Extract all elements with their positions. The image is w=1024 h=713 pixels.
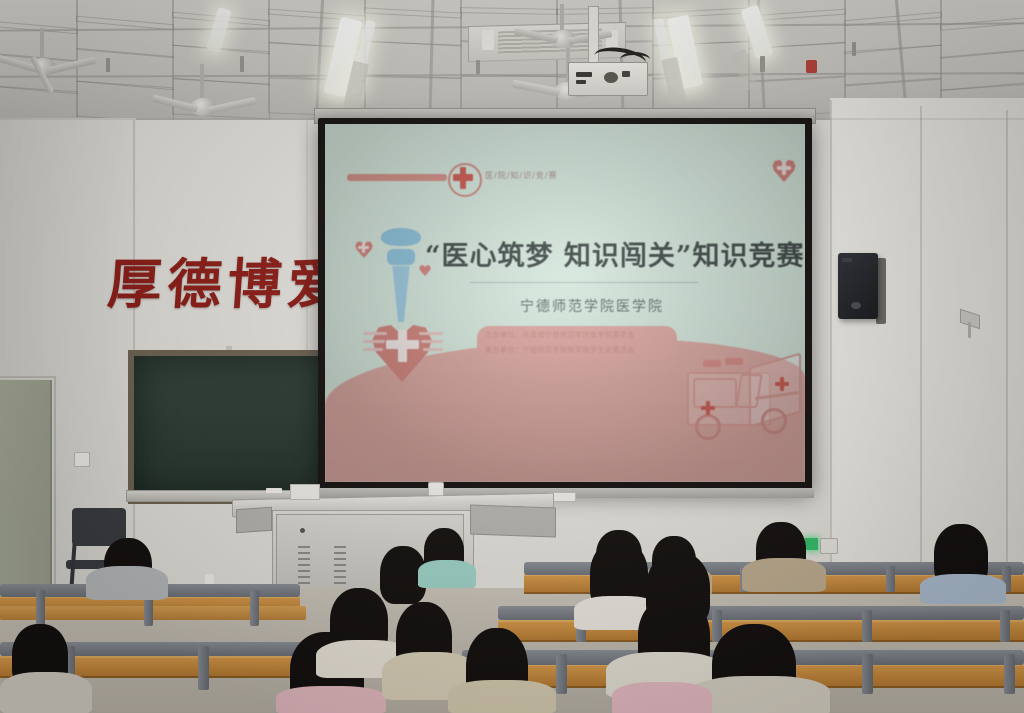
light-switch[interactable]	[74, 452, 90, 467]
audience-torso	[86, 566, 168, 600]
slide-badge-tag: 医/院/知/识/竞/赛	[485, 170, 557, 181]
audience-torso	[0, 672, 92, 713]
desk-surface	[0, 606, 306, 620]
slide-divider	[470, 282, 698, 283]
audience-torso	[276, 686, 386, 713]
organizer-line-2: 承办单位：宁德师范学院医学院学生会委员会	[485, 345, 635, 355]
classroom-door[interactable]	[0, 380, 52, 600]
audience-torso	[920, 574, 1006, 604]
slide-title: “医心筑梦 知识闯关”知识竞赛	[425, 234, 804, 273]
projector-lens	[604, 72, 618, 83]
tissue-box	[290, 484, 320, 500]
slide-header-bar	[347, 174, 447, 181]
slide-subtitle: 宁德师范学院医学院	[520, 296, 664, 316]
audience-torso	[612, 682, 712, 713]
audience-torso	[742, 558, 826, 592]
ambulance-icon	[683, 350, 799, 446]
projection-screen: 医/院/知/识/竞/赛 “医心筑梦 知识闯	[325, 124, 805, 482]
right-wall	[830, 98, 1024, 598]
organizer-line-1: 主办单位：共青团宁德师范学院医学院委员会	[485, 330, 635, 340]
podium-side-shelf-left	[236, 507, 272, 534]
audience-torso	[418, 560, 476, 588]
doctor-figure-icon	[381, 228, 421, 246]
slide-canvas: 医/院/知/识/竞/赛 “医心筑梦 知识闯	[325, 124, 805, 482]
wall-speaker	[838, 253, 878, 319]
wall-calligraphy: 厚德博爱	[105, 240, 351, 319]
cup	[428, 482, 444, 496]
green-status-light	[805, 538, 818, 550]
podium-side-shelf-right	[470, 504, 556, 537]
wall-plate	[820, 538, 838, 554]
audience-torso	[448, 680, 556, 713]
fire-alarm-icon	[806, 60, 817, 73]
lecture-hall-photo: 厚德博爱 医/院/知/识/竞/赛	[0, 0, 1024, 713]
